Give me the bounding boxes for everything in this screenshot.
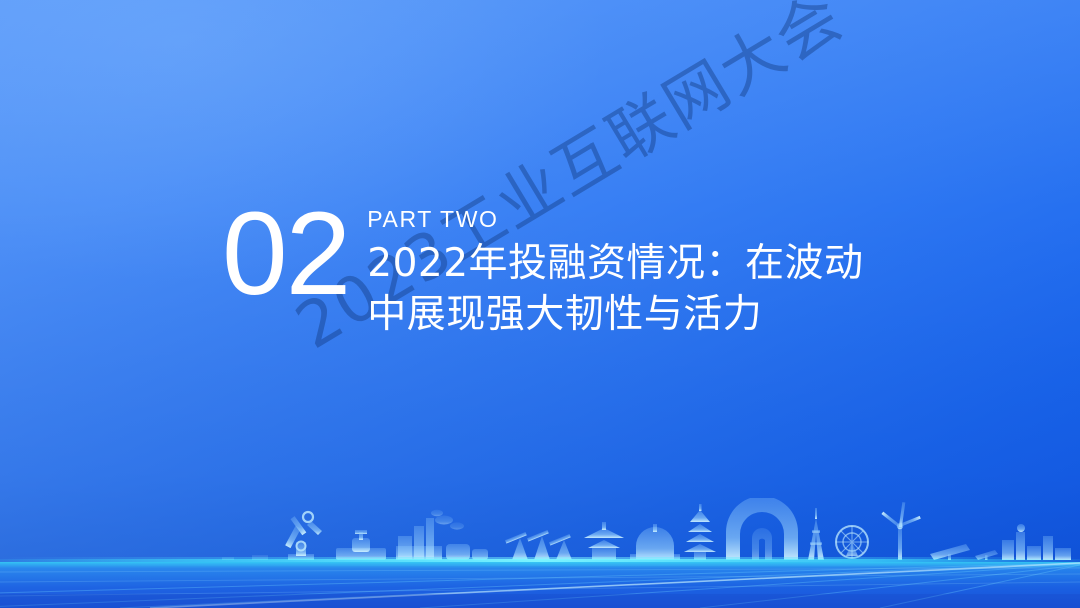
part-label: PART TWO [367, 208, 863, 231]
road-center-line [150, 563, 1080, 608]
wind-turbine-icon [881, 502, 920, 560]
perspective-grid [0, 563, 1080, 608]
slide-canvas: 2023工业互联网大会 02 PART TWO 2022年投融资情况：在波动 中… [0, 0, 1080, 608]
page-title-line-1: 2022年投融资情况：在波动 [367, 238, 863, 289]
gate-of-the-orient-icon [726, 498, 798, 560]
factory-smokestack-icon [396, 510, 464, 560]
headline-text-group: PART TWO 2022年投融资情况：在波动 中展现强大韧性与活力 [367, 196, 863, 341]
lattice-tower-icon [808, 508, 824, 560]
horizon-glow-line [0, 559, 1080, 562]
oil-pumpjack-icon [505, 530, 572, 560]
horizon-glow-soft [0, 557, 1080, 566]
road-ground [0, 562, 1080, 608]
ground-cross-lines [0, 568, 1080, 596]
robotic-arm-icon [285, 512, 322, 560]
skyline-scene [0, 498, 1080, 608]
storage-tank-icon [446, 544, 488, 560]
ground-vignette [0, 594, 1080, 608]
pagoda-icon [684, 504, 716, 560]
dome-building-icon [630, 524, 680, 560]
skyline-silhouettes [222, 498, 1071, 560]
pipe-valve-icon [336, 530, 386, 560]
page-title-line-2: 中展现强大韧性与活力 [367, 289, 863, 340]
section-number: 02 [222, 198, 349, 310]
city-buildings-icon [1002, 524, 1071, 560]
distant-blocks-icon [222, 555, 268, 560]
chinese-pavilion-icon [584, 522, 624, 560]
solar-panel-icon [930, 544, 998, 560]
ferris-wheel-icon [836, 526, 868, 558]
headline-block: 02 PART TWO 2022年投融资情况：在波动 中展现强大韧性与活力 [222, 196, 864, 341]
